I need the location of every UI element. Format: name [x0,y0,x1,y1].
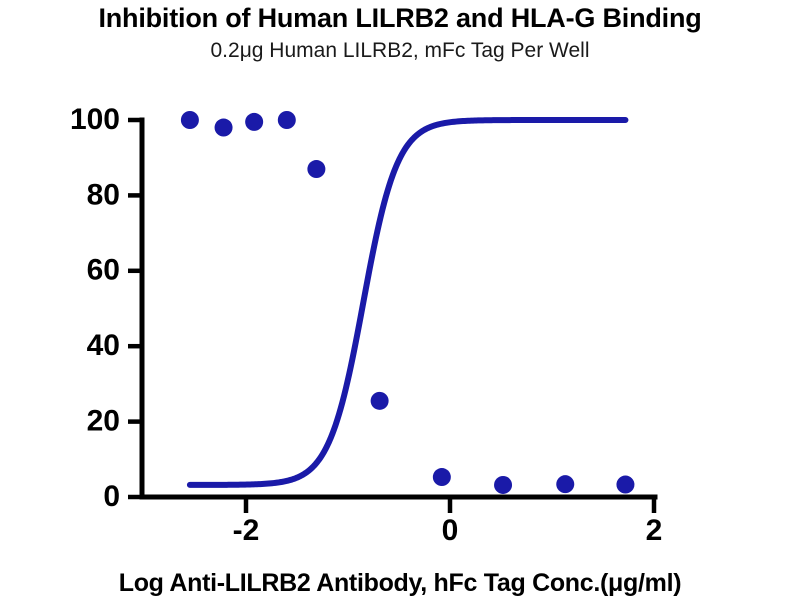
x-tick-label: -2 [233,514,260,547]
y-tick-label: 100 [70,103,120,136]
y-tick-label: 60 [87,254,120,287]
y-tick-label: 20 [87,405,120,438]
data-point [181,111,199,129]
data-point [307,160,325,178]
x-tick-label: 0 [442,514,459,547]
y-axis-ticks: 020406080100 [70,103,142,513]
y-tick-label: 0 [103,480,120,513]
x-tick-label: 2 [646,514,663,547]
fit-curve-group [190,120,626,485]
y-tick-label: 80 [87,178,120,211]
chart-figure: Inhibition of Human LILRB2 and HLA-G Bin… [0,0,800,600]
x-axis-label: Log Anti-LILRB2 Antibody, hFc Tag Conc.(… [119,569,682,597]
dose-response-curve [190,120,626,485]
data-point [245,113,263,131]
data-point [494,476,512,494]
data-point [433,468,451,486]
x-axis-label-block: Log Anti-LILRB2 Antibody, hFc Tag Conc.(… [0,569,800,598]
data-point [371,392,389,410]
data-point [556,475,574,493]
y-tick-label: 40 [87,329,120,362]
axes-group [142,120,655,497]
x-axis-ticks: -202 [233,497,663,547]
data-point [616,476,634,494]
plot-area: 020406080100 -202 [0,0,800,600]
data-point [215,119,233,137]
data-markers-group [181,111,635,494]
data-point [278,111,296,129]
